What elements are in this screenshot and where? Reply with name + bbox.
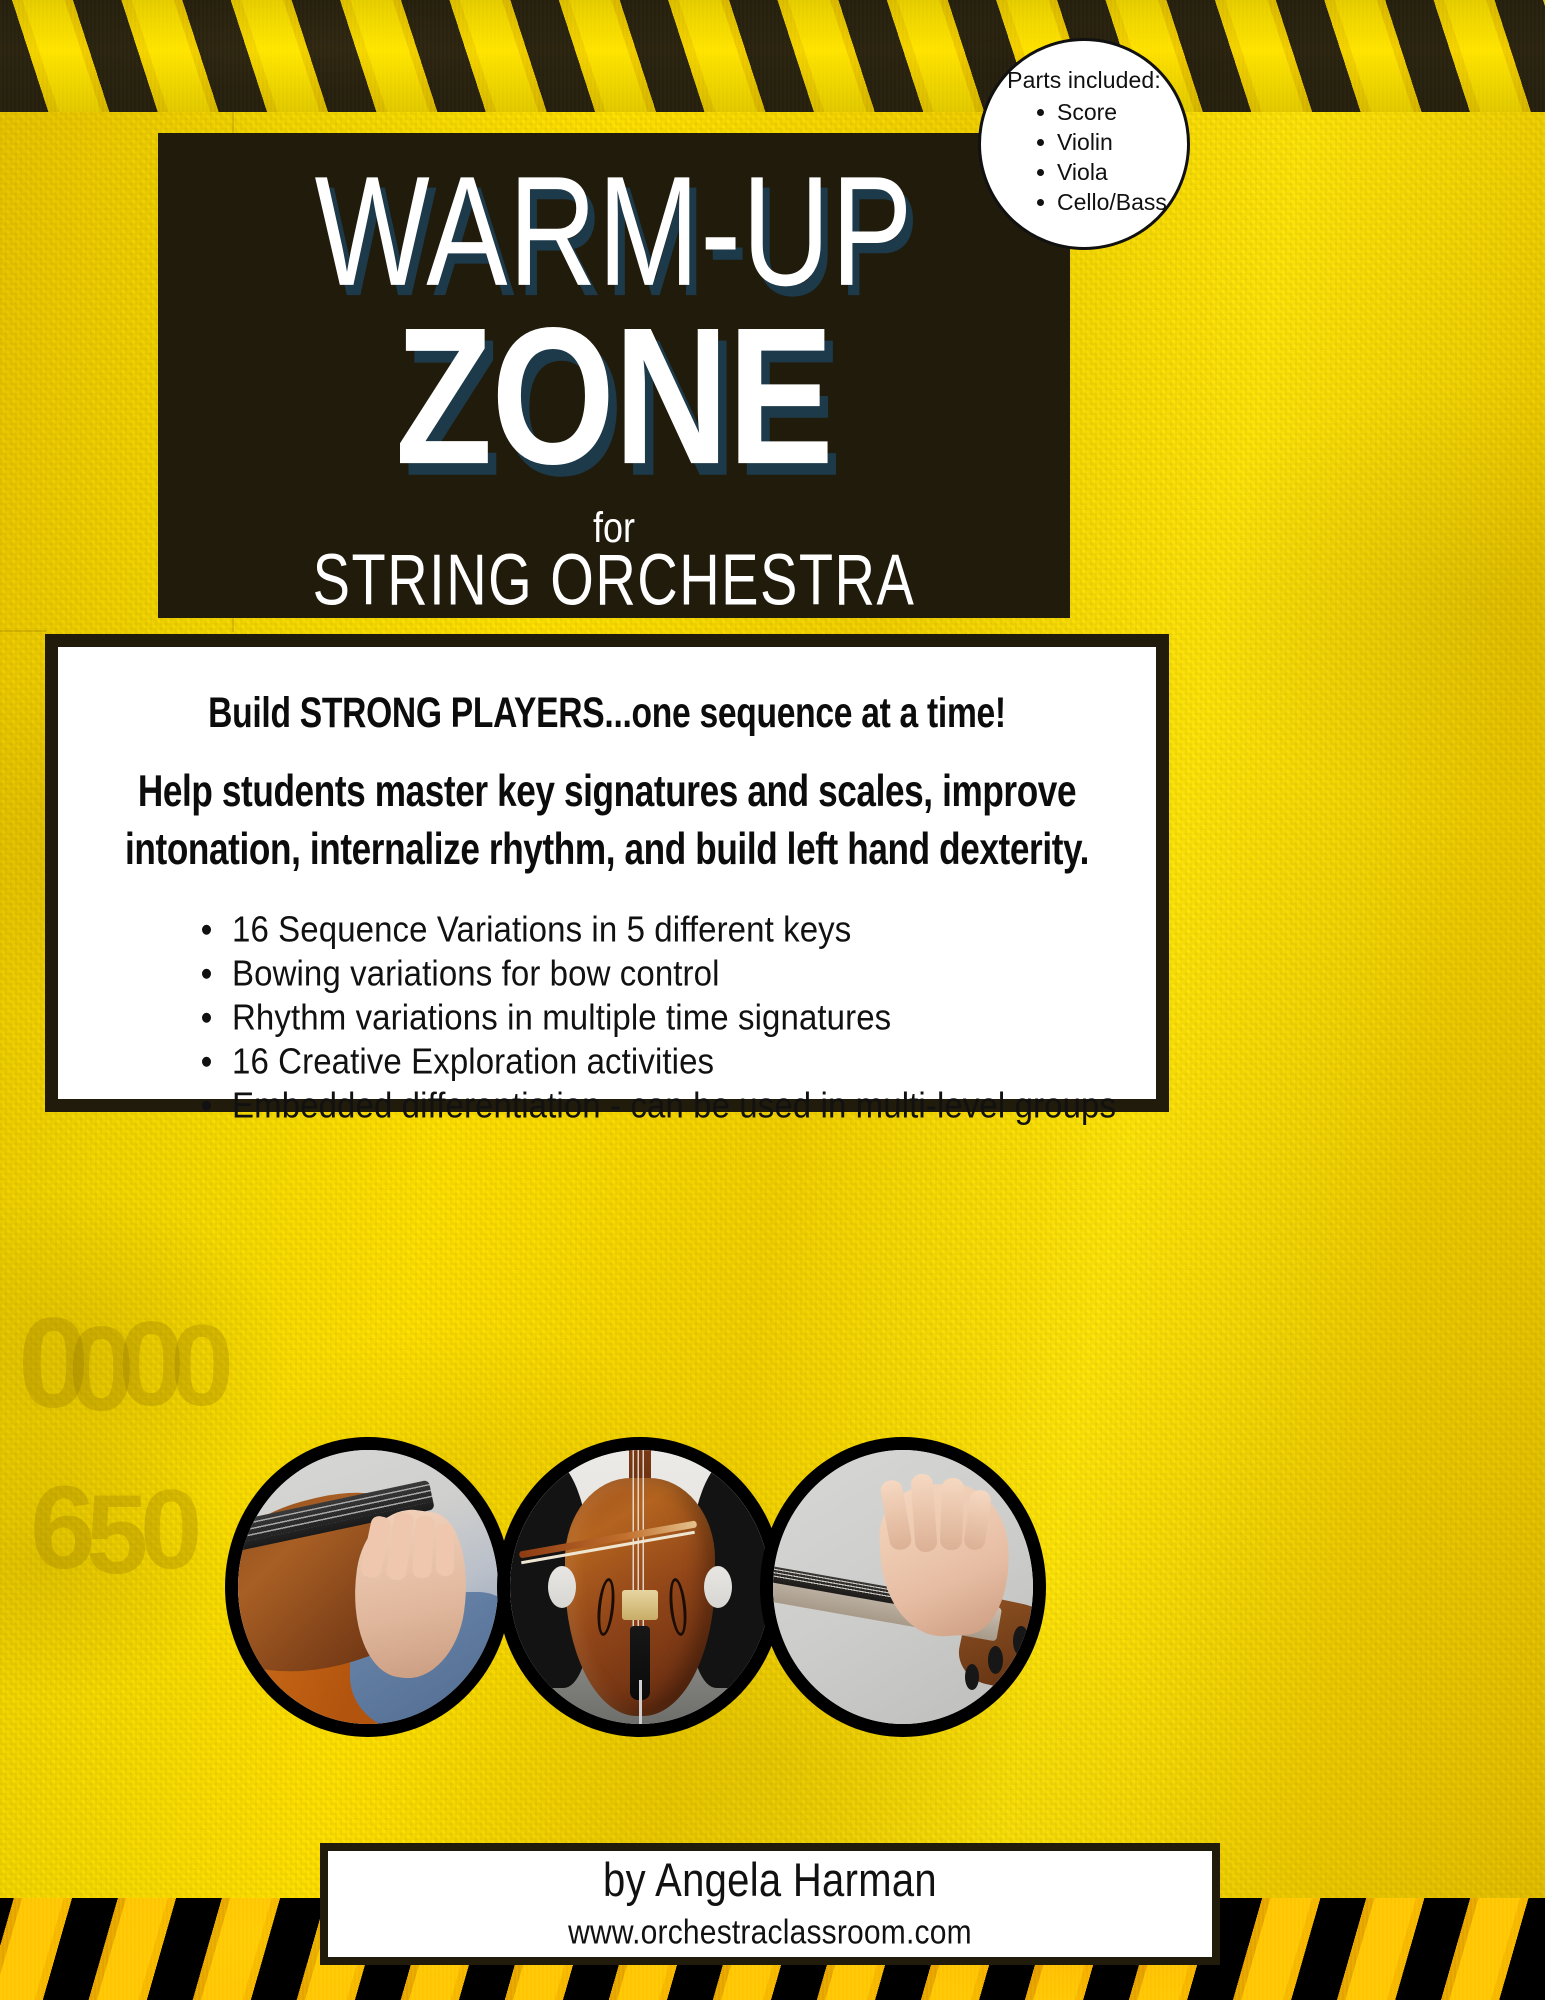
title-line-zone: ZONE xyxy=(131,298,1098,493)
badge-parts-list: ScoreViolinViolaCello/Bass xyxy=(995,98,1173,218)
hazard-stripe-top xyxy=(0,0,1545,112)
feature-bullet-item: Bowing variations for bow control xyxy=(198,949,1134,997)
feature-box: Build STRONG PLAYERS...one sequence at a… xyxy=(45,634,1169,1112)
badge-title: Parts included: xyxy=(995,67,1173,94)
title-panel: WARM-UP ZONE for STRING ORCHESTRA xyxy=(158,133,1070,618)
badge-part-item: Cello/Bass xyxy=(1035,188,1173,218)
cello-image xyxy=(510,1450,770,1724)
feature-subheadline: Help students master key signatures and … xyxy=(106,763,1107,878)
website-url[interactable]: www.orchestraclassroom.com xyxy=(568,1913,972,1952)
feature-headline: Build STRONG PLAYERS...one sequence at a… xyxy=(101,689,1113,738)
violin-bowing-image xyxy=(238,1450,498,1724)
parts-included-badge: Parts included: ScoreViolinViolaCello/Ba… xyxy=(978,38,1190,250)
feature-bullet-item: 16 Creative Exploration activities xyxy=(198,1037,1134,1085)
violin-left-hand-image xyxy=(773,1450,1033,1724)
photo-strip xyxy=(0,1437,1545,1737)
badge-part-item: Violin xyxy=(1035,128,1173,158)
title-subtitle: STRING ORCHESTRA xyxy=(158,537,1070,622)
photo-circle-cello xyxy=(497,1437,783,1737)
photo-circle-violin-left-hand xyxy=(760,1437,1046,1737)
badge-part-item: Score xyxy=(1035,98,1173,128)
credit-box: by Angela Harman www.orchestraclassroom.… xyxy=(320,1843,1220,1965)
photo-circle-violin-bowing xyxy=(225,1437,511,1737)
badge-part-item: Viola xyxy=(1035,158,1173,188)
feature-bullet-item: Embedded differentiation - can be used i… xyxy=(198,1081,1134,1129)
feature-bullet-item: 16 Sequence Variations in 5 different ke… xyxy=(198,905,1134,953)
feature-bullet-list: 16 Sequence Variations in 5 different ke… xyxy=(80,905,1134,1124)
author-name: by Angela Harman xyxy=(603,1854,937,1907)
feature-bullet-item: Rhythm variations in multiple time signa… xyxy=(198,993,1134,1041)
